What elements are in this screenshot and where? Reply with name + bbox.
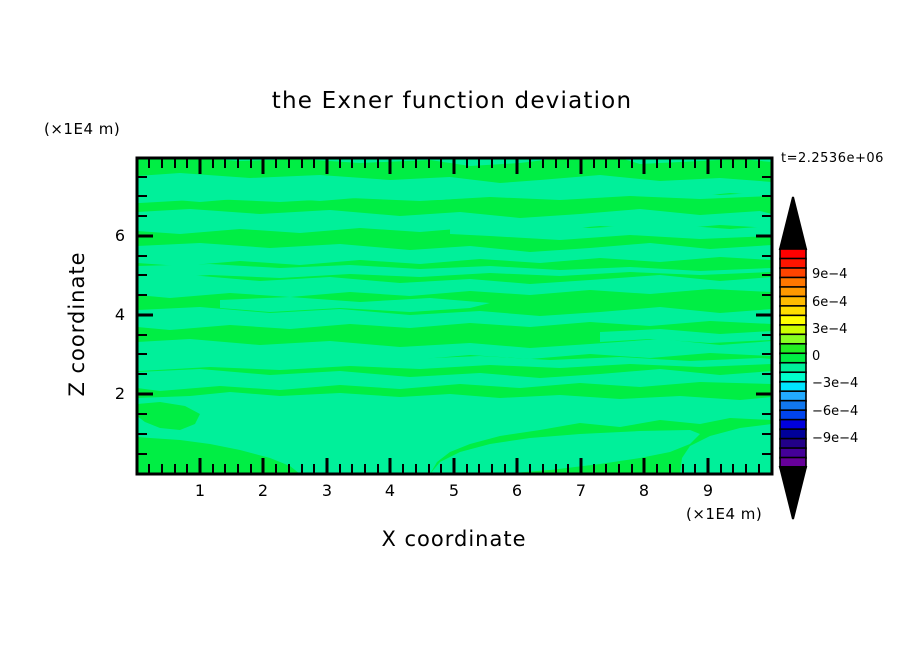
colorbar-band [780,410,806,420]
y-tick-label: 6 [107,226,125,245]
x-tick-label: 6 [505,481,529,500]
colorbar-band [780,448,806,458]
y-tick-label: 2 [107,384,125,403]
colorbar-band [780,296,806,306]
colorbar-band [780,325,806,335]
colorbar-band [780,258,806,268]
colorbar-band [780,382,806,392]
colorbar-tick-label: 3e−4 [812,322,847,337]
x-tick-label: 7 [569,481,593,500]
x-tick-label: 2 [251,481,275,500]
y-tick-label: 4 [107,305,125,324]
colorbar-tick-label: 6e−4 [812,295,847,310]
colorbar-band [780,249,806,259]
contour-plot-area [0,0,904,654]
colorbar-band [780,315,806,325]
colorbar[interactable] [780,197,806,519]
colorbar-band [780,306,806,316]
x-tick-label: 4 [378,481,402,500]
colorbar-band [780,344,806,354]
colorbar-tick-label: 0 [812,349,820,364]
colorbar-tick-label: −9e−4 [812,431,858,446]
colorbar-band [780,268,806,278]
colorbar-band [780,277,806,287]
colorbar-band [780,363,806,373]
colorbar-over-arrow [780,197,806,249]
x-tick-label: 5 [442,481,466,500]
colorbar-band [780,429,806,439]
colorbar-band [780,439,806,449]
colorbar-band [780,334,806,344]
colorbar-band [780,372,806,382]
colorbar-under-arrow [780,467,806,519]
colorbar-band [780,353,806,363]
figure-canvas: the Exner function deviation (×1E4 m) (×… [0,0,904,654]
colorbar-band [780,287,806,297]
x-tick-label: 8 [632,481,656,500]
x-tick-label: 9 [696,481,720,500]
colorbar-tick-label: −3e−4 [812,376,858,391]
x-tick-label: 1 [188,481,212,500]
colorbar-band [780,401,806,411]
colorbar-band [780,420,806,430]
colorbar-tick-label: 9e−4 [812,267,847,282]
colorbar-band [780,391,806,401]
colorbar-tick-label: −6e−4 [812,404,858,419]
colorbar-bands [780,249,806,468]
x-tick-label: 3 [315,481,339,500]
